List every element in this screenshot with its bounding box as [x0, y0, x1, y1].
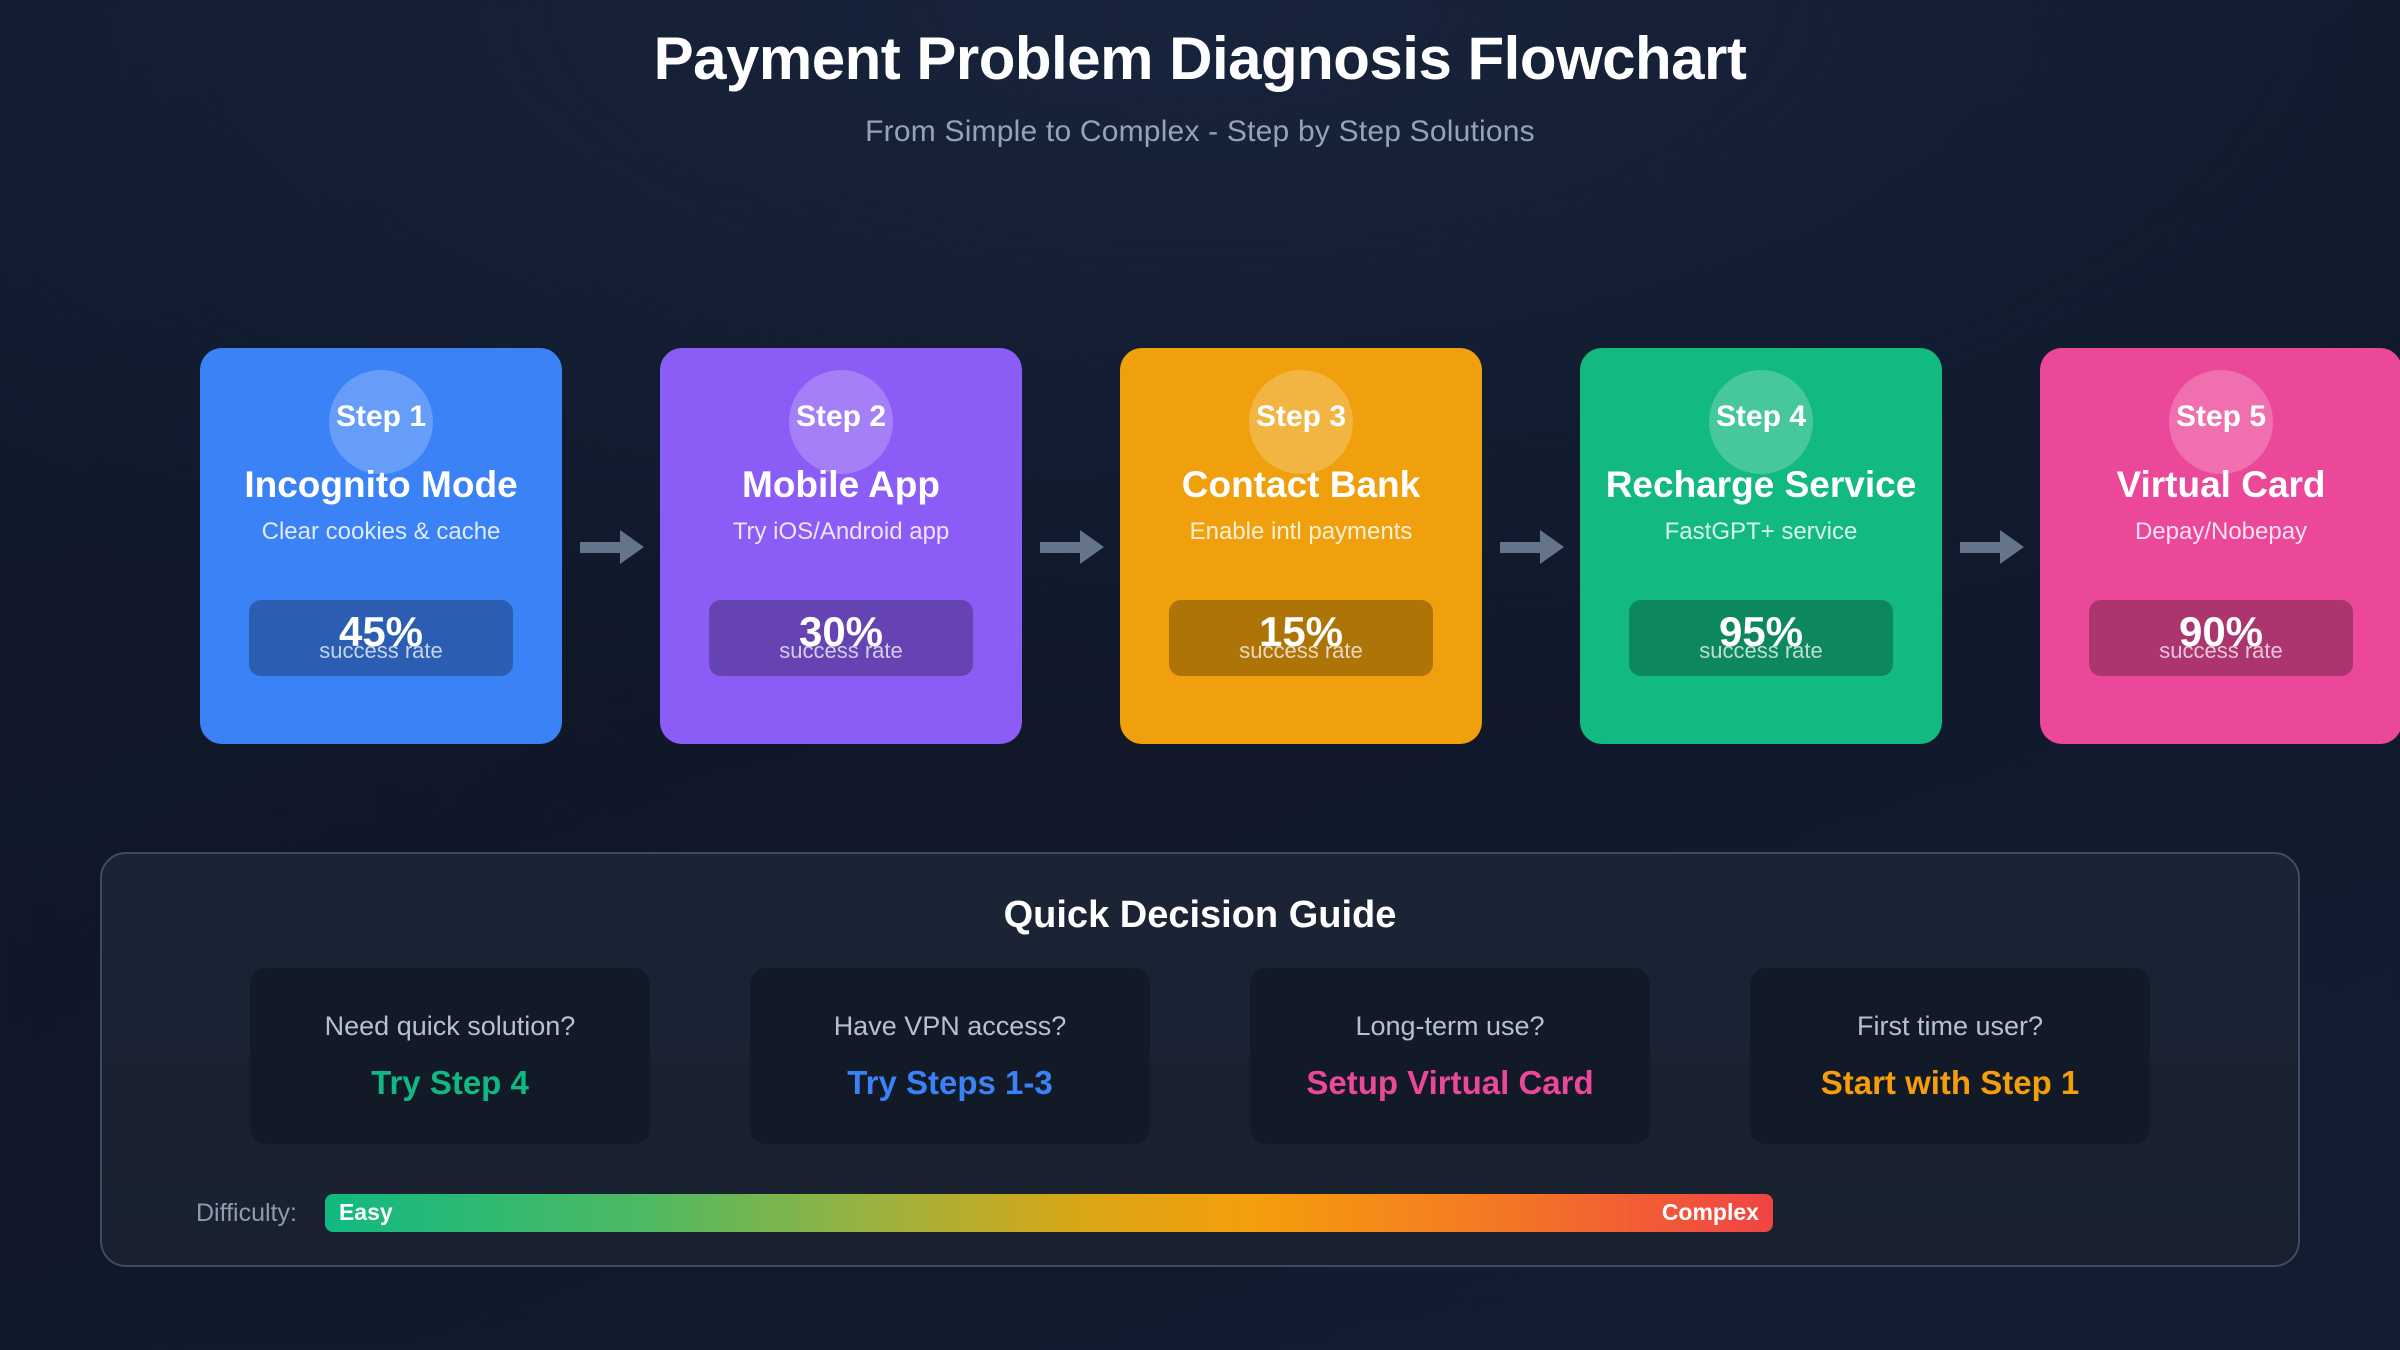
- decision-question: First time user?: [1857, 1011, 2043, 1042]
- step-description: Enable intl payments: [1190, 518, 1413, 546]
- step-success-rate-value: 90%: [2089, 608, 2353, 656]
- step-number: Step 1: [336, 400, 426, 434]
- arrow-right-icon-2: [1022, 518, 1120, 574]
- arrow-right-icon-1: [562, 518, 660, 574]
- decision-answer: Setup Virtual Card: [1306, 1064, 1593, 1102]
- step-success-rate-box: 90% success rate: [2089, 600, 2353, 676]
- difficulty-gradient-bar: Easy Complex: [325, 1194, 1773, 1232]
- decision-answer: Try Steps 1-3: [847, 1064, 1052, 1102]
- step-description: Clear cookies & cache: [262, 518, 501, 546]
- decision-card-3[interactable]: Long-term use? Setup Virtual Card: [1250, 968, 1650, 1144]
- arrow-shaft: [1960, 542, 2004, 553]
- arrow-head: [1080, 530, 1104, 564]
- steps-row: Step 1 Incognito Mode Clear cookies & ca…: [200, 348, 2400, 744]
- page-subtitle: From Simple to Complex - Step by Step So…: [0, 115, 2400, 149]
- step-name: Virtual Card: [2116, 464, 2325, 506]
- decision-answer: Start with Step 1: [1821, 1064, 2080, 1102]
- step-number: Step 4: [1716, 400, 1806, 434]
- decision-answer: Try Step 4: [371, 1064, 529, 1102]
- step-description: FastGPT+ service: [1665, 518, 1858, 546]
- decision-question: Need quick solution?: [325, 1011, 576, 1042]
- step-success-rate-value: 30%: [709, 608, 973, 656]
- step-card-3[interactable]: Step 3 Contact Bank Enable intl payments…: [1120, 348, 1482, 744]
- arrow-right-icon-3: [1482, 518, 1580, 574]
- step-success-rate-value: 15%: [1169, 608, 1433, 656]
- page-title: Payment Problem Diagnosis Flowchart: [0, 24, 2400, 93]
- difficulty-scale: Difficulty: Easy Complex: [196, 1194, 1773, 1232]
- step-success-rate-box: 15% success rate: [1169, 600, 1433, 676]
- decision-card-2[interactable]: Have VPN access? Try Steps 1-3: [750, 968, 1150, 1144]
- step-card-1[interactable]: Step 1 Incognito Mode Clear cookies & ca…: [200, 348, 562, 744]
- arrow-shaft: [580, 542, 624, 553]
- step-success-rate-box: 30% success rate: [709, 600, 973, 676]
- arrow-shaft: [1040, 542, 1084, 553]
- guide-title: Quick Decision Guide: [102, 894, 2298, 937]
- step-description: Try iOS/Android app: [733, 518, 950, 546]
- step-card-2[interactable]: Step 2 Mobile App Try iOS/Android app 30…: [660, 348, 1022, 744]
- step-name: Contact Bank: [1182, 464, 1420, 506]
- step-card-4[interactable]: Step 4 Recharge Service FastGPT+ service…: [1580, 348, 1942, 744]
- step-number: Step 3: [1256, 400, 1346, 434]
- step-number: Step 2: [796, 400, 886, 434]
- step-card-5[interactable]: Step 5 Virtual Card Depay/Nobepay 90% su…: [2040, 348, 2400, 744]
- step-success-rate-value: 95%: [1629, 608, 1893, 656]
- step-success-rate-box: 95% success rate: [1629, 600, 1893, 676]
- decision-card-4[interactable]: First time user? Start with Step 1: [1750, 968, 2150, 1144]
- arrow-right-icon-4: [1942, 518, 2040, 574]
- step-name: Recharge Service: [1606, 464, 1917, 506]
- arrow-head: [2000, 530, 2024, 564]
- decision-cards-row: Need quick solution? Try Step 4 Have VPN…: [0, 968, 2400, 1144]
- difficulty-label: Difficulty:: [196, 1199, 297, 1228]
- step-success-rate-value: 45%: [249, 608, 513, 656]
- arrow-shaft: [1500, 542, 1544, 553]
- decision-card-1[interactable]: Need quick solution? Try Step 4: [250, 968, 650, 1144]
- decision-question: Have VPN access?: [834, 1011, 1067, 1042]
- step-name: Mobile App: [742, 464, 940, 506]
- page-header: Payment Problem Diagnosis Flowchart From…: [0, 0, 2400, 149]
- difficulty-complex-label: Complex: [1662, 1199, 1759, 1226]
- decision-question: Long-term use?: [1355, 1011, 1544, 1042]
- step-description: Depay/Nobepay: [2135, 518, 2307, 546]
- step-success-rate-box: 45% success rate: [249, 600, 513, 676]
- difficulty-easy-label: Easy: [339, 1199, 393, 1226]
- arrow-head: [1540, 530, 1564, 564]
- step-number: Step 5: [2176, 400, 2266, 434]
- step-name: Incognito Mode: [244, 464, 517, 506]
- arrow-head: [620, 530, 644, 564]
